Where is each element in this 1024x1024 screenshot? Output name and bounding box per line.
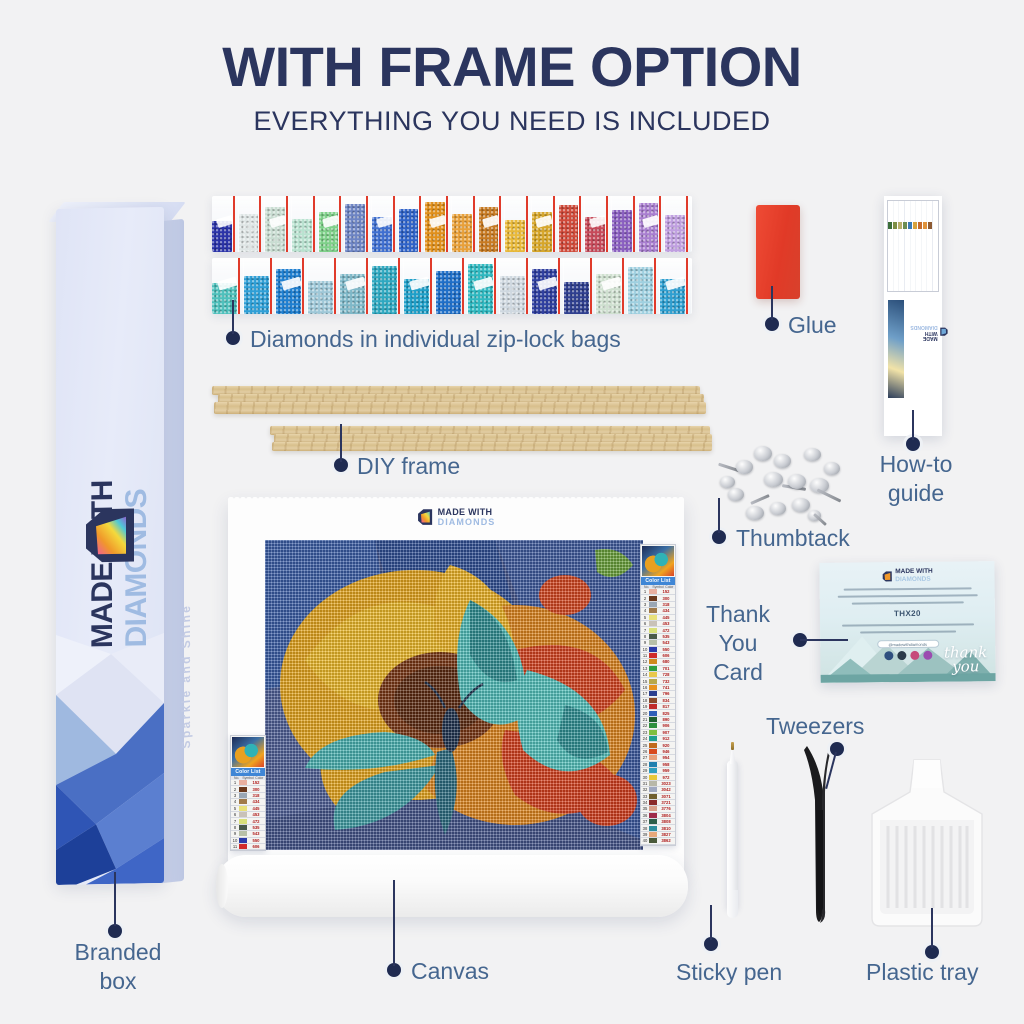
- legend-row-code: 3804: [657, 813, 675, 818]
- legend-row-number: 4: [641, 608, 649, 613]
- legend-row-swatch: [649, 800, 657, 805]
- bag-beads: [244, 276, 269, 314]
- diamond-mesh-overlay: [265, 540, 643, 850]
- legend-row-number: 17: [641, 691, 649, 696]
- pen-tip: [731, 742, 734, 750]
- legend-thumbnail: [232, 737, 264, 767]
- legend-row-number: 12: [641, 659, 649, 664]
- sticky-pen: [726, 742, 739, 922]
- diamond-bag: [212, 196, 239, 252]
- legend-row-code: 606: [247, 844, 265, 849]
- legend-row-code: 318: [657, 602, 675, 607]
- legend-row-swatch: [649, 621, 657, 626]
- frame-bar: [214, 402, 706, 414]
- legend-row-code: 550: [657, 647, 675, 652]
- callout-howto: How-to guide: [868, 450, 964, 508]
- legend-row-swatch: [649, 634, 657, 639]
- diy-frame-bars: [206, 372, 716, 472]
- diamond-gradient-logo-icon: [940, 328, 949, 337]
- legend-row-code: 543: [657, 640, 675, 645]
- bag-beads: [265, 207, 285, 252]
- ty-script-line2: you: [952, 657, 979, 675]
- guide-brand-line2: DIAMONDS: [910, 324, 938, 330]
- legend-row-swatch: [239, 844, 247, 849]
- leader-glue: [771, 286, 773, 320]
- legend-row-swatch: [239, 787, 247, 792]
- ty-brand-line2: DIAMONDS: [895, 575, 933, 583]
- legend-row-number: 5: [641, 615, 649, 620]
- legend-row-swatch: [649, 602, 657, 607]
- legend-row-swatch: [649, 768, 657, 773]
- legend-row-code: 550: [247, 838, 265, 843]
- pen-grip: [727, 890, 738, 918]
- bag-beads: [308, 281, 333, 314]
- canvas-brand-line2: DIAMONDS: [438, 517, 496, 527]
- diamond-gradient-logo-icon: [881, 571, 892, 582]
- legend-row-code: 606: [657, 653, 675, 658]
- legend-row-code: 300: [657, 596, 675, 601]
- legend-row-code: 825: [657, 711, 675, 716]
- page-title: WITH FRAME OPTION: [0, 34, 1024, 99]
- legend-row-swatch: [649, 628, 657, 633]
- color-list-legend-right: Color List No. Symbol Color 115223003318…: [640, 544, 676, 846]
- diamond-bag: [639, 196, 666, 252]
- legend-row-number: 2: [231, 787, 239, 792]
- legend-row-number: 40: [641, 838, 649, 843]
- legend-row-code: 954: [657, 755, 675, 760]
- diamond-bag: [532, 258, 564, 314]
- diamond-bag: [345, 196, 372, 252]
- legend-row: 11606: [231, 844, 265, 850]
- legend-row-number: 2: [641, 596, 649, 601]
- legend-row-number: 31: [641, 781, 649, 786]
- diamond-gradient-logo-icon: [82, 507, 138, 566]
- legend-row-swatch: [649, 640, 657, 645]
- legend-row-code: 3862: [657, 838, 675, 843]
- legend-row-code: 732: [657, 679, 675, 684]
- legend-row-swatch: [649, 794, 657, 799]
- bag-beads: [425, 202, 445, 252]
- diamond-bag: [468, 258, 500, 314]
- legend-row-code: 907: [657, 730, 675, 735]
- legend-row-swatch: [649, 819, 657, 824]
- legend-title: Color List: [641, 577, 675, 585]
- legend-row-code: 906: [657, 723, 675, 728]
- pen-cone: [730, 748, 736, 764]
- diamond-bag: [628, 258, 660, 314]
- legend-row-code: 472: [247, 819, 265, 824]
- leader-diyframe: [340, 424, 342, 462]
- legend-row-code: 3042: [657, 787, 675, 792]
- legend-row-number: 18: [641, 698, 649, 703]
- legend-row-code: 535: [657, 634, 675, 639]
- legend-row-swatch: [649, 666, 657, 671]
- legend-row-number: 30: [641, 775, 649, 780]
- guide-brand-line1: MADE WITH: [910, 330, 938, 340]
- legend-row-code: 318: [247, 793, 265, 798]
- leader-thumbtack: [718, 498, 720, 533]
- legend-row-number: 10: [231, 838, 239, 843]
- legend-row-swatch: [649, 717, 657, 722]
- legend-row-swatch: [239, 838, 247, 843]
- legend-row-code: 680: [657, 659, 675, 664]
- rolled-canvas: [216, 855, 688, 917]
- how-to-guide-booklet: MADE WITH DIAMONDS: [884, 196, 942, 436]
- diamond-bag: [660, 258, 692, 314]
- bag-beads: [505, 220, 525, 252]
- legend-row-code: 3071: [657, 794, 675, 799]
- branded-box: Sparkle and Shine MADE WITH DIAMONDS: [50, 190, 190, 900]
- diamond-bag: [452, 196, 479, 252]
- bag-beads: [345, 204, 365, 252]
- callout-tweezers: Tweezers: [766, 712, 864, 741]
- diamond-bag: [244, 258, 276, 314]
- diamond-bag: [308, 258, 340, 314]
- legend-row-swatch: [649, 698, 657, 703]
- bag-beads: [372, 266, 397, 314]
- legend-row-code: 453: [247, 812, 265, 817]
- legend-row-swatch: [649, 749, 657, 754]
- social-handle-pill: @madewithdiamonds: [877, 640, 939, 649]
- legend-row-number: 4: [231, 799, 239, 804]
- bag-beads: [468, 264, 493, 314]
- legend-row-swatch: [649, 826, 657, 831]
- legend-row-swatch: [649, 672, 657, 677]
- printed-canvas: MADE WITH DIAMONDS: [228, 500, 684, 875]
- guide-preview-image: [888, 300, 904, 398]
- legend-row-swatch: [649, 679, 657, 684]
- leader-plastictray: [931, 908, 933, 948]
- legend-row-number: 14: [641, 672, 649, 677]
- legend-row-number: 20: [641, 711, 649, 716]
- callout-stickypen: Sticky pen: [676, 958, 782, 987]
- legend-row-swatch: [239, 780, 247, 785]
- legend-row-number: 3: [231, 793, 239, 798]
- legend-row-swatch: [649, 813, 657, 818]
- legend-row-swatch: [649, 685, 657, 690]
- legend-row-code: 741: [657, 685, 675, 690]
- canvas-brand-logo: MADE WITH DIAMONDS: [417, 508, 496, 527]
- legend-row-swatch: [649, 743, 657, 748]
- legend-row-number: 6: [641, 621, 649, 626]
- legend-row-code: 3810: [657, 826, 675, 831]
- tweezers-image: [800, 740, 844, 925]
- legend-row-number: 24: [641, 736, 649, 741]
- legend-row-swatch: [649, 755, 657, 760]
- diamond-bag: [319, 196, 346, 252]
- legend-row-code: 3023: [657, 781, 675, 786]
- legend-row-code: 3721: [657, 800, 675, 805]
- bag-beads: [612, 210, 632, 252]
- diamond-gradient-logo-icon: [417, 509, 434, 526]
- bag-beads: [500, 276, 525, 314]
- legend-row-swatch: [649, 653, 657, 658]
- legend-row-swatch: [649, 691, 657, 696]
- tweezers: [800, 740, 844, 925]
- legend-row-number: 32: [641, 787, 649, 792]
- legend-title: Color List: [231, 768, 265, 776]
- canvas-sheet: MADE WITH DIAMONDS: [228, 500, 684, 875]
- legend-row-number: 26: [641, 749, 649, 754]
- diamond-bag: [372, 196, 399, 252]
- legend-row-code: 959: [657, 768, 675, 773]
- legend-row-code: 434: [657, 608, 675, 613]
- legend-row-code: 300: [247, 787, 265, 792]
- social-icons: [884, 651, 932, 661]
- ty-text-line-2: [837, 594, 977, 597]
- legend-row-swatch: [649, 736, 657, 741]
- diamond-bag: [532, 196, 559, 252]
- legend-row-number: 15: [641, 679, 649, 684]
- box-tagline: Sparkle and Shine: [179, 603, 193, 749]
- legend-row-number: 36: [641, 813, 649, 818]
- legend-row-code: 472: [657, 628, 675, 633]
- legend-row-code: 796: [657, 691, 675, 696]
- legend-row-number: 8: [231, 825, 239, 830]
- legend-row-number: 11: [641, 653, 649, 658]
- legend-row-swatch: [239, 825, 247, 830]
- diamond-bag: [436, 258, 468, 314]
- legend-row-number: 1: [231, 780, 239, 785]
- legend-row-swatch: [649, 787, 657, 792]
- legend-row-code: 152: [247, 780, 265, 785]
- legend-row-number: 3: [641, 602, 649, 607]
- legend-row-swatch: [649, 806, 657, 811]
- legend-row-swatch: [649, 723, 657, 728]
- legend-row-code: 543: [247, 831, 265, 836]
- legend-row-number: 29: [641, 768, 649, 773]
- legend-row-number: 33: [641, 794, 649, 799]
- bag-beads: [452, 214, 472, 252]
- legend-row-swatch: [649, 704, 657, 709]
- guide-color-table: [887, 200, 939, 292]
- legend-row-code: 890: [657, 717, 675, 722]
- diamond-bag: [505, 196, 532, 252]
- guide-brand-logo: MADE WITH DIAMONDS: [910, 324, 948, 340]
- legend-row-code: 920: [657, 743, 675, 748]
- guide-color-swatches: [888, 222, 932, 229]
- legend-row-swatch: [649, 608, 657, 613]
- legend-rows: 1152230033184434544564537472853595431055…: [231, 780, 265, 850]
- tray-image: [866, 758, 988, 930]
- diamond-bag: [596, 258, 628, 314]
- legend-row-number: 35: [641, 806, 649, 811]
- thank-you-brand-logo: MADE WITH DIAMONDS: [881, 569, 933, 584]
- callout-dot-branded-box: [108, 924, 122, 938]
- legend-row-swatch: [649, 615, 657, 620]
- diamond-bag: [212, 258, 244, 314]
- legend-row-number: 7: [641, 628, 649, 633]
- diamond-bag: [425, 196, 452, 252]
- diamond-bag: [372, 258, 404, 314]
- leader-branded-box: [114, 872, 116, 926]
- diamond-bag: [265, 196, 292, 252]
- legend-row-number: 9: [231, 831, 239, 836]
- bag-beads: [559, 205, 579, 252]
- thank-you-card: MADE WITH DIAMONDS THX20 @madewithdiamon…: [819, 561, 995, 683]
- plastic-tray: [866, 758, 988, 930]
- frame-bar: [272, 442, 712, 451]
- callout-thankyou: Thank You Card: [686, 600, 790, 686]
- legend-row-swatch: [239, 831, 247, 836]
- leader-stickypen: [710, 905, 712, 940]
- legend-row-swatch: [239, 806, 247, 811]
- diamond-bag: [500, 258, 532, 314]
- legend-row-swatch: [649, 775, 657, 780]
- legend-row-code: 3808: [657, 819, 675, 824]
- legend-row-number: 19: [641, 704, 649, 709]
- legend-row-swatch: [649, 596, 657, 601]
- facebook-icon: [884, 651, 893, 660]
- bag-beads: [639, 203, 659, 252]
- pinterest-icon: [923, 651, 932, 660]
- bag-beads: [292, 219, 312, 252]
- legend-row-code: 834: [657, 698, 675, 703]
- legend-row-code: 535: [247, 825, 265, 830]
- legend-row-code: 3776: [657, 806, 675, 811]
- page-subtitle: EVERYTHING YOU NEED IS INCLUDED: [0, 106, 1024, 137]
- low-poly-pattern: [56, 633, 164, 885]
- legend-row-swatch: [649, 659, 657, 664]
- callout-plastictray: Plastic tray: [866, 958, 978, 987]
- diamond-bag: [340, 258, 372, 314]
- diamond-bag: [559, 196, 586, 252]
- canvas-brand-line1: MADE WITH: [438, 508, 496, 517]
- diamond-bag: [612, 196, 639, 252]
- legend-row-swatch: [239, 819, 247, 824]
- legend-rows: 1152230033184434544564537472853595431055…: [641, 589, 675, 845]
- legend-row-number: 28: [641, 762, 649, 767]
- diamond-bags-row-bottom: [212, 258, 692, 314]
- canvas-artwork: [265, 540, 643, 850]
- legend-row-code: 3827: [657, 832, 675, 837]
- legend-row-swatch: [649, 832, 657, 837]
- legend-row-code: 958: [657, 762, 675, 767]
- callout-canvas: Canvas: [411, 957, 489, 986]
- legend-row-code: 912: [657, 736, 675, 741]
- legend-row-code: 445: [247, 806, 265, 811]
- legend-row-code: 445: [657, 615, 675, 620]
- legend-row-code: 453: [657, 621, 675, 626]
- ty-text-line-1: [843, 587, 971, 590]
- legend-row-swatch: [239, 812, 247, 817]
- instagram-icon: [910, 651, 919, 660]
- diamond-bag: [665, 196, 692, 252]
- legend-row: 403862: [641, 838, 675, 844]
- legend-row-number: 37: [641, 819, 649, 824]
- legend-row-number: 10: [641, 647, 649, 652]
- legend-row-number: 11: [231, 844, 239, 849]
- callout-thumbtack: Thumbtack: [736, 524, 850, 553]
- legend-row-swatch: [649, 589, 657, 594]
- leader-howto: [912, 410, 914, 440]
- legend-row-code: 701: [657, 666, 675, 671]
- callout-dot-tweezers: [830, 742, 844, 756]
- legend-row-number: 21: [641, 717, 649, 722]
- pen-barrel: [727, 760, 738, 910]
- infographic-canvas: WITH FRAME OPTION EVERYTHING YOU NEED IS…: [0, 0, 1024, 1024]
- legend-row-number: 39: [641, 832, 649, 837]
- callout-diamonds: Diamonds in individual zip-lock bags: [250, 325, 621, 354]
- legend-row-code: 152: [657, 589, 675, 594]
- legend-row-swatch: [239, 793, 247, 798]
- diamond-bag: [399, 196, 426, 252]
- legend-row-number: 5: [231, 806, 239, 811]
- legend-row-number: 27: [641, 755, 649, 760]
- diamond-bags-row-top: [212, 196, 692, 252]
- diamond-bag: [564, 258, 596, 314]
- leader-diamonds: [232, 300, 234, 334]
- legend-row-number: 9: [641, 640, 649, 645]
- box-front-face: MADE WITH DIAMONDS: [56, 207, 164, 885]
- legend-row-swatch: [649, 838, 657, 843]
- legend-row-number: 25: [641, 743, 649, 748]
- twitter-icon: [897, 651, 906, 660]
- bag-beads: [628, 267, 653, 314]
- promo-code: THX20: [894, 609, 921, 618]
- leader-canvas: [393, 880, 395, 966]
- legend-row-number: 22: [641, 723, 649, 728]
- ty-text-line-3: [851, 601, 963, 604]
- diamond-bag: [479, 196, 506, 252]
- bag-beads: [239, 214, 259, 252]
- legend-row-swatch: [239, 799, 247, 804]
- legend-row-code: 972: [657, 775, 675, 780]
- legend-row-number: 16: [641, 685, 649, 690]
- diamond-bag: [585, 196, 612, 252]
- diamond-bag: [239, 196, 266, 252]
- legend-thumbnail: [642, 546, 674, 576]
- callout-glue: Glue: [788, 311, 837, 340]
- legend-row-swatch: [649, 730, 657, 735]
- legend-row-swatch: [649, 647, 657, 652]
- legend-row-number: 34: [641, 800, 649, 805]
- diamond-bag: [276, 258, 308, 314]
- legend-row-code: 434: [247, 799, 265, 804]
- legend-row-code: 817: [657, 704, 675, 709]
- callout-branded-box: Branded box: [58, 938, 178, 996]
- bag-beads: [665, 215, 685, 252]
- legend-row-number: 7: [231, 819, 239, 824]
- legend-row-code: 728: [657, 672, 675, 677]
- legend-row-swatch: [649, 762, 657, 767]
- legend-row-number: 13: [641, 666, 649, 671]
- bag-beads: [479, 207, 499, 252]
- glue-stick: [756, 205, 800, 299]
- legend-row-number: 38: [641, 826, 649, 831]
- bag-beads: [276, 269, 301, 314]
- legend-row-swatch: [649, 781, 657, 786]
- bag-beads: [564, 282, 589, 314]
- legend-row-swatch: [649, 711, 657, 716]
- callout-diyframe: DIY frame: [357, 452, 460, 481]
- diamond-bag: [404, 258, 436, 314]
- color-list-legend-left: Color List No. Symbol Color 115223003318…: [230, 735, 266, 851]
- legend-row-code: 946: [657, 749, 675, 754]
- ty-brand-line1: MADE WITH: [895, 569, 933, 576]
- legend-row-number: 8: [641, 634, 649, 639]
- legend-row-number: 1: [641, 589, 649, 594]
- diamond-bag: [292, 196, 319, 252]
- legend-row-number: 6: [231, 812, 239, 817]
- box-side-face: Sparkle and Shine: [162, 219, 184, 883]
- legend-row-number: 23: [641, 730, 649, 735]
- bag-beads: [436, 271, 461, 314]
- leader-thankyou: [800, 639, 848, 641]
- thank-you-script: thank you: [944, 645, 988, 674]
- bag-beads: [399, 209, 419, 252]
